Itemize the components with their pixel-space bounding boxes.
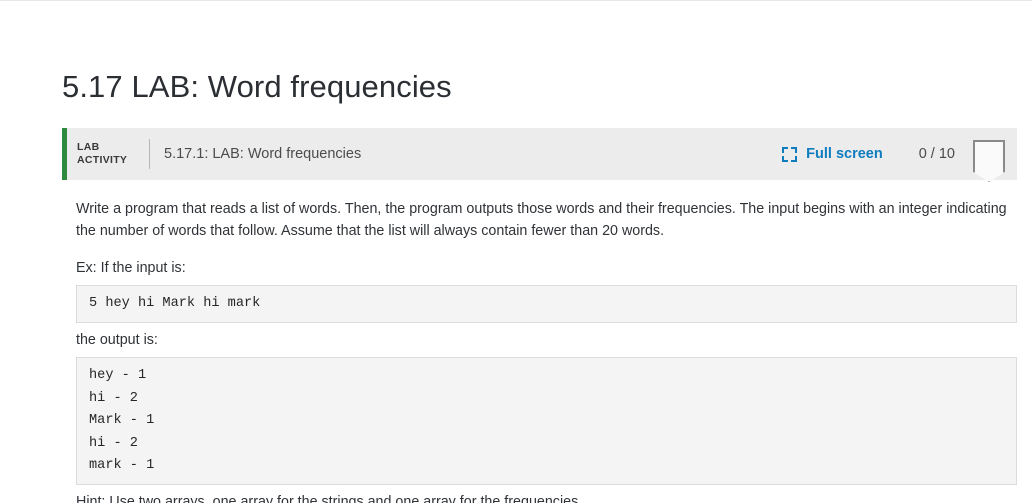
lab-activity-tag: LAB ACTIVITY xyxy=(67,141,149,167)
example-output-code: hey - 1 hi - 2 Mark - 1 hi - 2 mark - 1 xyxy=(76,357,1017,485)
lab-activity-card: LAB ACTIVITY 5.17.1: LAB: Word frequenci… xyxy=(62,128,1017,503)
header-actions: Full screen 0 / 10 xyxy=(782,128,1017,180)
activity-body: Write a program that reads a list of wor… xyxy=(62,180,1017,503)
ribbon-badge-icon[interactable] xyxy=(973,140,1005,182)
expand-icon xyxy=(782,147,797,162)
lab-activity-tag-line2: ACTIVITY xyxy=(77,154,149,167)
page-title: 5.17 LAB: Word frequencies xyxy=(62,69,452,105)
problem-description: Write a program that reads a list of wor… xyxy=(76,198,1014,242)
score-display: 0 / 10 xyxy=(919,146,955,162)
example-output-label: the output is: xyxy=(76,332,1017,348)
fullscreen-button[interactable]: Full screen xyxy=(782,146,883,162)
example-input-code: 5 hey hi Mark hi mark xyxy=(76,285,1017,323)
header-divider xyxy=(149,139,150,169)
activity-subtitle: 5.17.1: LAB: Word frequencies xyxy=(164,146,361,162)
lab-activity-tag-line1: LAB xyxy=(77,141,149,154)
lab-page: 5.17 LAB: Word frequencies LAB ACTIVITY … xyxy=(0,0,1032,503)
activity-header: LAB ACTIVITY 5.17.1: LAB: Word frequenci… xyxy=(62,128,1017,180)
fullscreen-label: Full screen xyxy=(806,146,883,162)
hint-text: Hint: Use two arrays, one array for the … xyxy=(76,494,1017,503)
top-divider xyxy=(0,0,1032,1)
example-input-label: Ex: If the input is: xyxy=(76,260,1017,276)
